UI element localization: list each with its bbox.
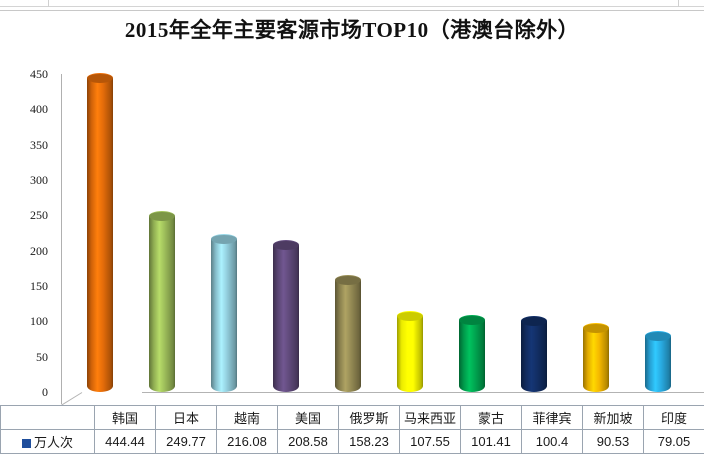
- bar-body: [211, 239, 237, 392]
- table-category-cell: 俄罗斯: [339, 406, 400, 430]
- bar-body: [397, 316, 423, 392]
- bar-body: [335, 280, 361, 392]
- table-category-cell: 越南: [217, 406, 278, 430]
- worksheet-top-border-2: [0, 10, 704, 11]
- table-value-cell: 208.58: [278, 430, 339, 454]
- y-axis-tick-labels: 450400350300250200150100500: [0, 62, 48, 405]
- bar-slot: [131, 62, 193, 405]
- bar-cylinder[interactable]: [645, 336, 671, 392]
- table-value-cell: 100.4: [522, 430, 583, 454]
- y-axis-tick-label: 400: [4, 103, 48, 115]
- y-axis-tick-label: 350: [4, 139, 48, 151]
- bar-body: [87, 78, 113, 392]
- bar-top-ellipse: [273, 240, 299, 250]
- table-category-cell: 美国: [278, 406, 339, 430]
- table-corner-cell: [1, 406, 95, 430]
- table-category-cell: 韩国: [95, 406, 156, 430]
- bar-body: [521, 321, 547, 392]
- bar-cylinder[interactable]: [149, 216, 175, 393]
- bar-cylinder[interactable]: [273, 245, 299, 392]
- y-axis-tick-label: 150: [4, 280, 48, 292]
- table-category-cell: 日本: [156, 406, 217, 430]
- bar-slot: [627, 62, 689, 405]
- bar-top-ellipse: [645, 331, 671, 341]
- worksheet-column-divider-left: [48, 0, 49, 7]
- legend-series-label: 万人次: [34, 435, 73, 450]
- legend-row-header: 万人次: [1, 430, 95, 454]
- bar-body: [583, 328, 609, 392]
- bar-cylinder[interactable]: [521, 321, 547, 392]
- chart-title: 2015年全年主要客源市场TOP10（港澳台除外）: [0, 14, 704, 44]
- bar-top-ellipse: [397, 311, 423, 321]
- bar-slot: [69, 62, 131, 405]
- table-category-cell: 菲律宾: [522, 406, 583, 430]
- bar-top-ellipse: [149, 211, 175, 221]
- bar-top-ellipse: [521, 316, 547, 326]
- bar-series-container: [61, 62, 689, 405]
- table-value-cell: 216.08: [217, 430, 278, 454]
- table-value-cell: 444.44: [95, 430, 156, 454]
- y-axis-tick-label: 250: [4, 209, 48, 221]
- table-value-cell: 79.05: [644, 430, 704, 454]
- y-axis-tick-label: 0: [4, 386, 48, 398]
- table-value-cell: 107.55: [400, 430, 461, 454]
- table-row-values: 万人次 444.44249.77216.08208.58158.23107.55…: [1, 430, 704, 454]
- table-category-cell: 蒙古: [461, 406, 522, 430]
- table-value-cell: 101.41: [461, 430, 522, 454]
- bar-cylinder[interactable]: [459, 320, 485, 392]
- table-value-cell: 249.77: [156, 430, 217, 454]
- table-category-cell: 新加坡: [583, 406, 644, 430]
- bar-slot: [565, 62, 627, 405]
- bar-top-ellipse: [459, 315, 485, 325]
- bar-cylinder[interactable]: [397, 316, 423, 392]
- bar-cylinder[interactable]: [335, 280, 361, 392]
- plot-area: 450400350300250200150100500: [0, 62, 704, 405]
- bar-body: [149, 216, 175, 393]
- bar-slot: [503, 62, 565, 405]
- bar-slot: [441, 62, 503, 405]
- y-axis-tick-label: 300: [4, 174, 48, 186]
- bar-body: [459, 320, 485, 392]
- bar-cylinder[interactable]: [87, 78, 113, 392]
- y-axis-tick-label: 50: [4, 351, 48, 363]
- worksheet-column-divider-right: [678, 0, 679, 7]
- chart-data-table: 韩国日本越南美国俄罗斯马来西亚蒙古菲律宾新加坡印度 万人次 444.44249.…: [0, 405, 704, 454]
- chart-container: 2015年全年主要客源市场TOP10（港澳台除外） 45040035030025…: [0, 0, 704, 454]
- bar-slot: [379, 62, 441, 405]
- bar-top-ellipse: [87, 73, 113, 83]
- table-value-cell: 90.53: [583, 430, 644, 454]
- y-axis-tick-label: 450: [4, 68, 48, 80]
- bar-slot: [193, 62, 255, 405]
- bar-top-ellipse: [335, 275, 361, 285]
- table-category-cell: 马来西亚: [400, 406, 461, 430]
- bar-top-ellipse: [583, 323, 609, 333]
- legend-color-swatch-icon: [22, 439, 31, 448]
- bar-body: [645, 336, 671, 392]
- bar-slot: [317, 62, 379, 405]
- y-axis-tick-label: 200: [4, 245, 48, 257]
- worksheet-top-border: [0, 6, 704, 7]
- bar-slot: [255, 62, 317, 405]
- table-row-categories: 韩国日本越南美国俄罗斯马来西亚蒙古菲律宾新加坡印度: [1, 406, 704, 430]
- table-value-cell: 158.23: [339, 430, 400, 454]
- bar-top-ellipse: [211, 234, 237, 244]
- bar-cylinder[interactable]: [583, 328, 609, 392]
- table-category-cell: 印度: [644, 406, 704, 430]
- bar-cylinder[interactable]: [211, 239, 237, 392]
- y-axis-tick-label: 100: [4, 315, 48, 327]
- bar-body: [273, 245, 299, 392]
